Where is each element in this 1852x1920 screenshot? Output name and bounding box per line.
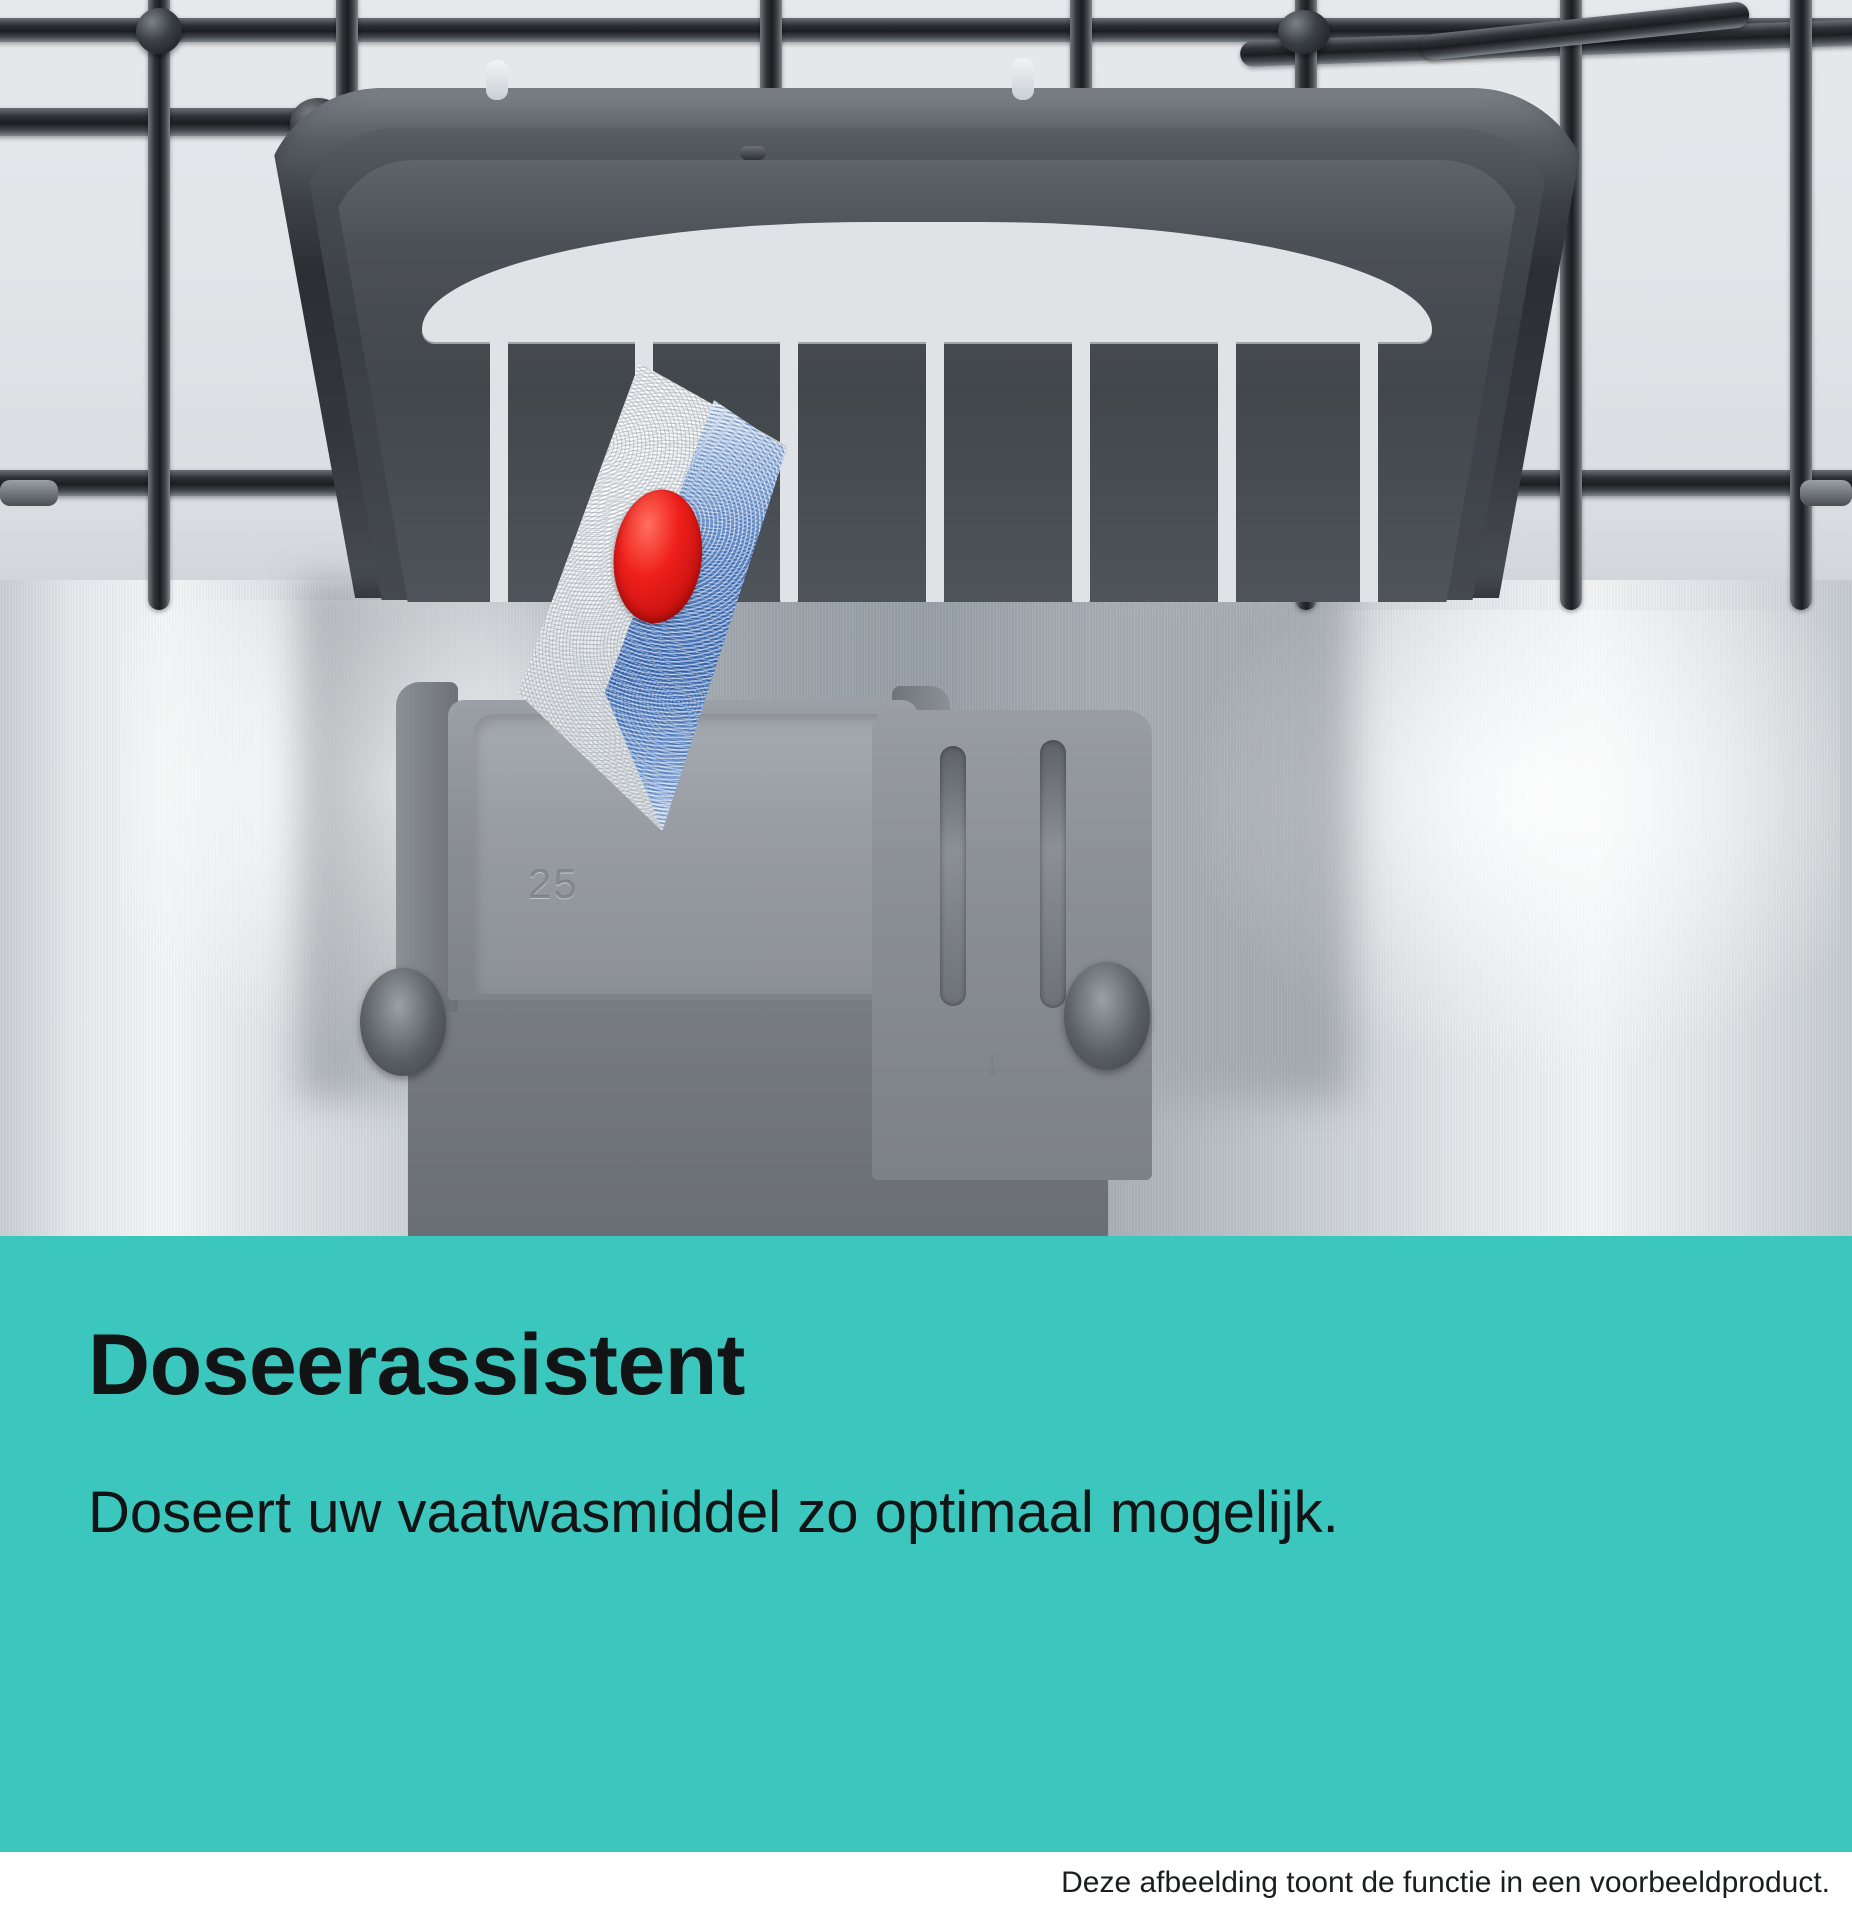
product-feature-card: ↓ 25 Doseerassistent Doseert uw vaatwasm… bbox=[0, 0, 1852, 1920]
dispenser-vent-slot bbox=[1040, 740, 1066, 1008]
dispenser-roller-left bbox=[360, 968, 446, 1076]
caption-band: Doseerassistent Doseert uw vaatwasmiddel… bbox=[0, 1236, 1852, 1852]
feature-title: Doseerassistent bbox=[88, 1322, 745, 1408]
tray-slot bbox=[926, 332, 944, 602]
dispenser-vent-slot bbox=[940, 746, 966, 1006]
detergent-dispenser: ↓ 25 bbox=[352, 700, 1152, 1236]
rack-clip bbox=[1012, 58, 1034, 100]
dispenser-arrow-icon: ↓ bbox=[982, 1040, 1002, 1085]
feature-illustration: ↓ 25 bbox=[0, 0, 1852, 1236]
tray-slot bbox=[490, 310, 508, 602]
tray-face bbox=[330, 160, 1524, 602]
rack-clip bbox=[486, 60, 508, 100]
tray-slot bbox=[1218, 320, 1236, 602]
tray-scallop-cutout bbox=[422, 222, 1432, 342]
dispenser-side-panel: ↓ bbox=[872, 710, 1152, 1180]
dispenser-roller-right bbox=[1064, 962, 1150, 1070]
rack-tray bbox=[0, 0, 1852, 640]
rack-stud bbox=[740, 146, 766, 160]
image-disclaimer: Deze afbeelding toont de functie in een … bbox=[1061, 1866, 1830, 1900]
feature-subtitle: Doseert uw vaatwasmiddel zo optimaal mog… bbox=[88, 1476, 1488, 1550]
tray-slot bbox=[1360, 310, 1378, 602]
tray-slot bbox=[1072, 328, 1090, 602]
dispenser-dose-marking: 25 bbox=[528, 860, 579, 908]
footer-bar: Deze afbeelding toont de functie in een … bbox=[0, 1852, 1852, 1920]
